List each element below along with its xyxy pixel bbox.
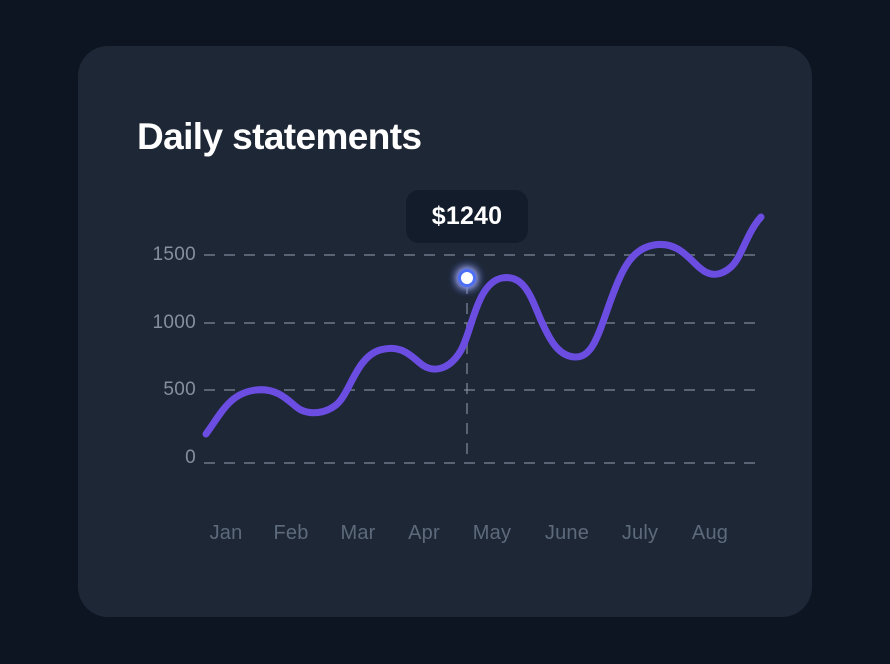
value-tooltip[interactable]: $1240	[406, 190, 528, 243]
x-axis-tick-feb: Feb	[273, 522, 308, 545]
y-axis-tick-1500: 1500	[126, 244, 196, 266]
y-axis-tick-1000: 1000	[126, 312, 196, 334]
daily-statements-card: Daily statements	[78, 46, 812, 617]
y-axis-tick-0: 0	[126, 447, 196, 469]
x-axis-tick-mar: Mar	[340, 522, 375, 545]
data-point-core	[461, 272, 473, 284]
x-axis-tick-aug: Aug	[692, 522, 728, 545]
x-axis-tick-july: July	[622, 522, 658, 545]
app-background: Daily statements	[0, 0, 890, 664]
x-axis-tick-jan: Jan	[210, 522, 243, 545]
chart-plot-area[interactable]: 1500 1000 500 0 Jan Feb Mar Apr May June…	[78, 46, 812, 617]
tooltip-value-label: $1240	[432, 202, 503, 231]
x-axis-tick-apr: Apr	[408, 522, 440, 545]
chart-line-series	[206, 217, 761, 434]
x-axis-tick-may: May	[473, 522, 511, 545]
y-axis-tick-500: 500	[126, 379, 196, 401]
active-data-point[interactable]	[455, 266, 479, 290]
x-axis-tick-june: June	[545, 522, 589, 545]
